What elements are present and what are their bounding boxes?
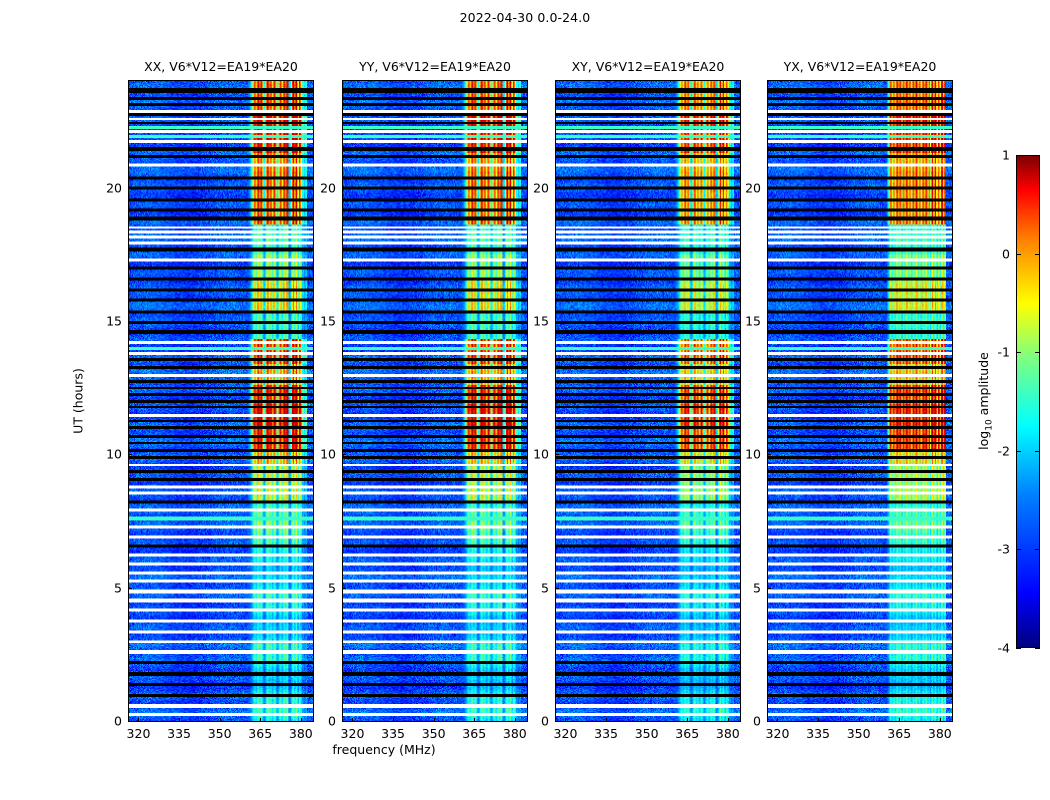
x-tick-label: 350: [635, 726, 659, 741]
x-tick-label: 320: [766, 726, 790, 741]
y-tick-label: 0: [733, 714, 761, 729]
colorbar[interactable]: [1016, 155, 1040, 648]
x-tick-label: 350: [208, 726, 232, 741]
y-tick-label: 20: [733, 180, 761, 195]
x-tick-label: 350: [847, 726, 871, 741]
y-tick-mark: [128, 721, 132, 722]
x-tick-mark: [179, 718, 180, 722]
y-tick-mark: [342, 588, 346, 589]
x-tick-label: 335: [806, 726, 830, 741]
heatmap-panel-xy[interactable]: [555, 80, 741, 722]
x-tick-label: 335: [167, 726, 191, 741]
y-tick-label: 20: [94, 180, 122, 195]
y-tick-mark: [555, 588, 559, 589]
panel-title-yx: YX, V6*V12=EA19*EA20: [767, 59, 953, 77]
y-tick-mark: [555, 721, 559, 722]
x-tick-label: 365: [248, 726, 272, 741]
x-tick-mark: [818, 718, 819, 722]
y-tick-label: 0: [308, 714, 336, 729]
y-tick-mark: [767, 321, 771, 322]
colorbar-tick-label: -3: [982, 542, 1010, 557]
x-tick-mark: [565, 718, 566, 722]
y-tick-mark: [342, 454, 346, 455]
y-tick-mark: [342, 721, 346, 722]
colorbar-label-suffix: amplitude: [976, 352, 991, 419]
figure-title: 2022-04-30 0.0-24.0: [0, 10, 1050, 25]
x-tick-label: 320: [341, 726, 365, 741]
x-axis-label: frequency (MHz): [0, 742, 1050, 757]
y-tick-label: 5: [308, 580, 336, 595]
y-tick-mark: [555, 321, 559, 322]
y-tick-label: 15: [94, 314, 122, 329]
y-tick-mark: [555, 454, 559, 455]
x-tick-mark: [301, 718, 302, 722]
y-tick-mark: [128, 321, 132, 322]
colorbar-tick-label: -4: [982, 641, 1010, 656]
colorbar-label-sub: 10: [984, 419, 994, 430]
y-tick-label: 5: [94, 580, 122, 595]
colorbar-tick-mark: [1016, 352, 1021, 353]
y-tick-mark: [767, 454, 771, 455]
colorbar-tick-mark: [1035, 648, 1040, 649]
y-tick-mark: [128, 588, 132, 589]
y-tick-label: 15: [521, 314, 549, 329]
y-tick-mark: [128, 188, 132, 189]
panel-title-xy: XY, V6*V12=EA19*EA20: [555, 59, 741, 77]
x-tick-mark: [220, 718, 221, 722]
colorbar-tick-mark: [1035, 155, 1040, 156]
panel-title-xx: XX, V6*V12=EA19*EA20: [128, 59, 314, 77]
y-tick-label: 15: [308, 314, 336, 329]
x-tick-mark: [687, 718, 688, 722]
y-tick-mark: [767, 721, 771, 722]
y-tick-mark: [555, 188, 559, 189]
heatmap-panel-yy[interactable]: [342, 80, 528, 722]
colorbar-tick-label: -1: [982, 345, 1010, 360]
colorbar-tick-mark: [1035, 451, 1040, 452]
colorbar-tick-label: -2: [982, 443, 1010, 458]
y-tick-label: 20: [308, 180, 336, 195]
colorbar-tick-mark: [1016, 451, 1021, 452]
y-tick-label: 10: [94, 447, 122, 462]
colorbar-tick-mark: [1035, 352, 1040, 353]
y-tick-label: 10: [308, 447, 336, 462]
x-tick-label: 380: [928, 726, 952, 741]
y-tick-label: 5: [733, 580, 761, 595]
x-tick-label: 365: [887, 726, 911, 741]
colorbar-tick-mark: [1016, 648, 1021, 649]
x-tick-label: 320: [554, 726, 578, 741]
x-tick-mark: [260, 718, 261, 722]
colorbar-tick-mark: [1035, 254, 1040, 255]
x-tick-mark: [393, 718, 394, 722]
y-tick-mark: [342, 188, 346, 189]
x-tick-mark: [940, 718, 941, 722]
x-tick-label: 335: [381, 726, 405, 741]
x-tick-mark: [606, 718, 607, 722]
x-tick-label: 365: [675, 726, 699, 741]
heatmap-panel-yx[interactable]: [767, 80, 953, 722]
y-tick-label: 10: [521, 447, 549, 462]
y-tick-mark: [767, 588, 771, 589]
y-tick-mark: [342, 321, 346, 322]
heatmap-panel-xx[interactable]: [128, 80, 314, 722]
x-tick-label: 335: [594, 726, 618, 741]
x-tick-label: 365: [462, 726, 486, 741]
y-axis-label: UT (hours): [71, 368, 86, 434]
y-tick-label: 0: [521, 714, 549, 729]
x-axis-label-text: frequency (MHz): [332, 742, 435, 757]
y-tick-label: 5: [521, 580, 549, 595]
colorbar-tick-mark: [1016, 549, 1021, 550]
y-tick-label: 10: [733, 447, 761, 462]
figure-canvas: 2022-04-30 0.0-24.0 XX, V6*V12=EA19*EA20…: [0, 0, 1050, 800]
y-tick-label: 20: [521, 180, 549, 195]
colorbar-tick-mark: [1016, 155, 1021, 156]
x-tick-mark: [434, 718, 435, 722]
x-tick-mark: [474, 718, 475, 722]
y-tick-mark: [128, 454, 132, 455]
x-tick-label: 350: [422, 726, 446, 741]
y-tick-label: 15: [733, 314, 761, 329]
colorbar-tick-mark: [1035, 549, 1040, 550]
colorbar-tick-label: 0: [982, 246, 1010, 261]
x-tick-mark: [138, 718, 139, 722]
panel-title-yy: YY, V6*V12=EA19*EA20: [342, 59, 528, 77]
x-tick-mark: [899, 718, 900, 722]
y-tick-label: 0: [94, 714, 122, 729]
x-tick-mark: [515, 718, 516, 722]
colorbar-tick-label: 1: [982, 148, 1010, 163]
colorbar-tick-mark: [1016, 254, 1021, 255]
x-tick-mark: [859, 718, 860, 722]
x-tick-mark: [728, 718, 729, 722]
y-tick-mark: [767, 188, 771, 189]
colorbar-label: log10 amplitude: [976, 352, 995, 450]
x-tick-label: 320: [127, 726, 151, 741]
x-tick-mark: [647, 718, 648, 722]
x-tick-mark: [352, 718, 353, 722]
x-tick-mark: [777, 718, 778, 722]
